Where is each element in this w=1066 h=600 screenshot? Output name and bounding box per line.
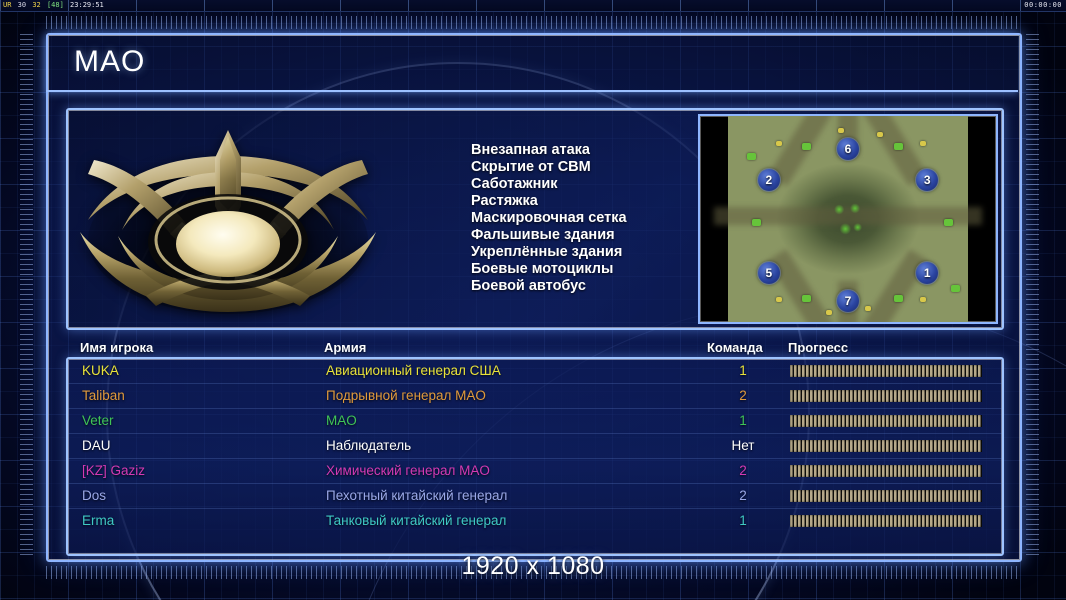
table-row[interactable]: DAUНаблюдательНет (68, 434, 1002, 459)
loading-screen: UR 30 32 [48] 23:29:51 00:00:00 MAO (0, 0, 1066, 600)
player-name: DAU (82, 434, 111, 458)
player-progress-fill (790, 365, 982, 377)
stat-value-1: 30 (17, 1, 27, 9)
match-timer: 00:00:00 (1024, 1, 1062, 10)
column-header-name: Имя игрока (80, 340, 153, 355)
resolution-caption: 1920 x 1080 (0, 552, 1066, 581)
fps-label: UR (2, 1, 12, 9)
map-resource-marker (802, 143, 811, 150)
map-resource-marker (865, 306, 871, 311)
player-progress-bar (790, 415, 982, 427)
map-resource-marker (920, 141, 926, 146)
player-progress-bar (790, 515, 982, 527)
player-army: Подрывной генерал MAO (326, 384, 486, 408)
map-spawn-marker: 1 (916, 262, 938, 284)
player-progress-bar (790, 365, 982, 377)
table-row[interactable]: ErmaТанковый китайский генерал1 (68, 509, 1002, 533)
player-team: 2 (722, 484, 764, 508)
faction-info-panel: Внезапная атака Скрытие от СВМ Саботажни… (66, 108, 1004, 330)
player-name: [KZ] Gaziz (82, 459, 145, 483)
ability-item: Саботажник (471, 176, 698, 193)
ability-item: Растяжка (471, 193, 698, 210)
column-header-army: Армия (324, 340, 366, 355)
player-army: Наблюдатель (326, 434, 411, 458)
player-team: 1 (722, 409, 764, 433)
map-resource-marker (826, 310, 832, 315)
player-name: Erma (82, 509, 114, 533)
map-resource-marker (920, 297, 926, 302)
map-spawn-marker: 6 (837, 138, 859, 160)
map-resource-marker (776, 141, 782, 146)
ability-items: Внезапная атака Скрытие от СВМ Саботажни… (471, 142, 698, 295)
debug-stats: UR 30 32 [48] 23:29:51 (2, 1, 105, 10)
emblem-icon (70, 114, 386, 320)
map-resource-marker (894, 143, 903, 150)
player-progress-bar (790, 490, 982, 502)
table-row[interactable]: VeterMAO1 (68, 409, 1002, 434)
player-team: 1 (722, 509, 764, 533)
stat-value-3: [48] (46, 1, 65, 9)
faction-emblem (68, 110, 388, 328)
player-table: KUKAАвиационный генерал США1TalibanПодры… (66, 357, 1004, 556)
map-spawn-marker: 2 (758, 169, 780, 191)
map-spawn-marker: 3 (916, 169, 938, 191)
player-army: Пехотный китайский генерал (326, 484, 507, 508)
ruler-right (1026, 34, 1039, 556)
system-clock: 23:29:51 (69, 1, 105, 9)
player-progress-fill (790, 415, 982, 427)
player-army: Химический генерал MAO (326, 459, 490, 483)
player-team: 1 (722, 359, 764, 383)
map-preview-image: 623517 (728, 116, 968, 322)
ability-item: Боевые мотоциклы (471, 261, 698, 278)
player-army: MAO (326, 409, 357, 433)
table-row[interactable]: KUKAАвиационный генерал США1 (68, 359, 1002, 384)
player-progress-fill (790, 515, 982, 527)
map-resource-marker (944, 219, 953, 226)
player-team: 2 (722, 459, 764, 483)
map-resource-marker (802, 295, 811, 302)
table-row[interactable]: TalibanПодрывной генерал MAO2 (68, 384, 1002, 409)
title-bar: MAO (46, 33, 1018, 92)
ability-item: Боевой автобус (471, 278, 698, 295)
map-resource-marker (776, 297, 782, 302)
player-name: KUKA (82, 359, 119, 383)
map-resource-marker (747, 153, 756, 160)
faction-ability-list: Внезапная атака Скрытие от СВМ Саботажни… (388, 110, 698, 328)
ability-item: Скрытие от СВМ (471, 159, 698, 176)
player-name: Dos (82, 484, 106, 508)
player-progress-fill (790, 465, 982, 477)
player-progress-fill (790, 440, 982, 452)
column-header-progress: Прогресс (788, 340, 848, 355)
player-progress-fill (790, 390, 982, 402)
player-progress-bar (790, 465, 982, 477)
ability-item: Внезапная атака (471, 142, 698, 159)
map-resource-marker (877, 132, 883, 137)
table-row[interactable]: DosПехотный китайский генерал2 (68, 484, 1002, 509)
player-name: Taliban (82, 384, 125, 408)
ruler-left (20, 34, 33, 556)
map-spawn-marker: 5 (758, 262, 780, 284)
ruler-top (46, 16, 1021, 29)
column-header-team: Команда (707, 340, 763, 355)
player-name: Veter (82, 409, 114, 433)
map-preview-frame: 623517 (698, 114, 998, 324)
map-resource-marker (752, 219, 761, 226)
map-center-resources (826, 200, 870, 238)
player-progress-bar (790, 390, 982, 402)
ability-item: Фальшивые здания (471, 227, 698, 244)
page-title: MAO (74, 45, 145, 79)
player-table-header: Имя игрока Армия Команда Прогресс (66, 338, 1000, 358)
player-army: Авиационный генерал США (326, 359, 501, 383)
player-team: 2 (722, 384, 764, 408)
player-army: Танковый китайский генерал (326, 509, 506, 533)
map-resource-marker (894, 295, 903, 302)
map-resource-marker (951, 285, 960, 292)
player-progress-fill (790, 490, 982, 502)
player-team: Нет (722, 434, 764, 458)
table-row[interactable]: [KZ] GazizХимический генерал MAO2 (68, 459, 1002, 484)
ability-item: Укреплённые здания (471, 244, 698, 261)
stat-value-2: 32 (31, 1, 41, 9)
player-progress-bar (790, 440, 982, 452)
status-bar: UR 30 32 [48] 23:29:51 00:00:00 (0, 0, 1066, 12)
ability-item: Маскировочная сетка (471, 210, 698, 227)
